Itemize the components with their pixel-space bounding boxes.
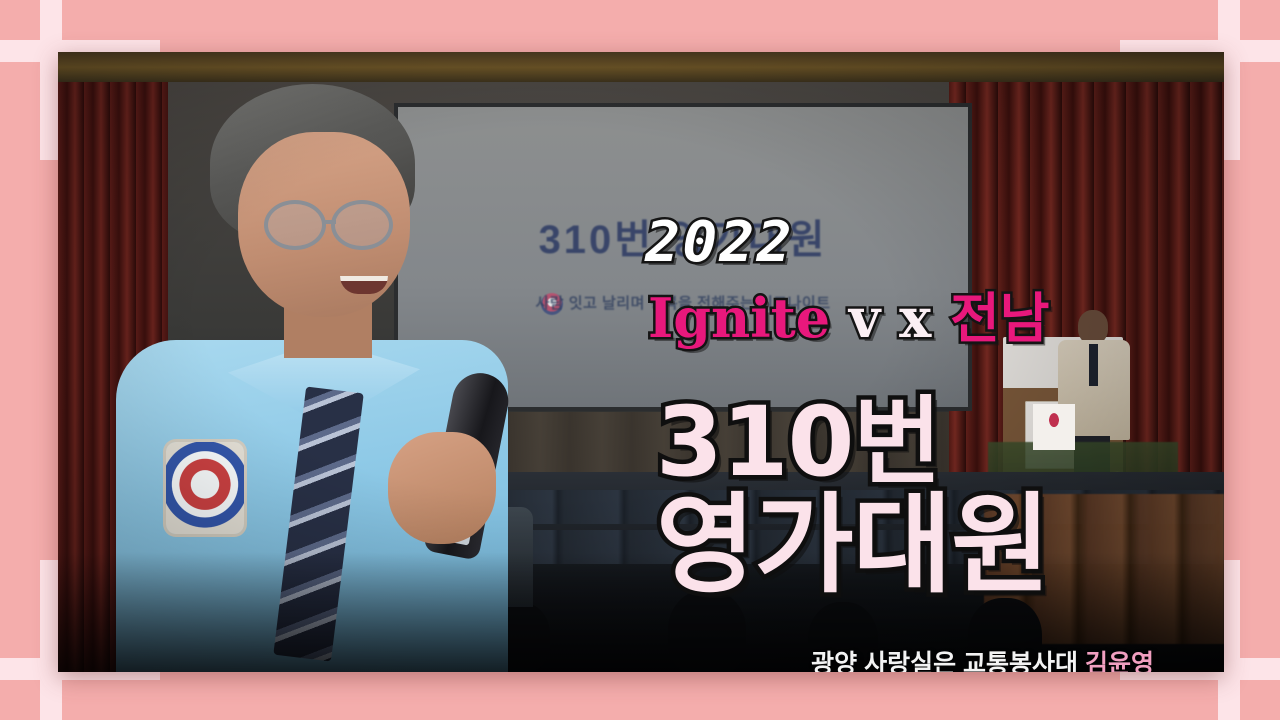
- uniform-shoulder-patch-icon: [166, 442, 244, 534]
- caption-name-prefix: 광양 사랑실은 교통봉사대: [811, 650, 1085, 672]
- overlay-brand-region: 전남: [950, 286, 1049, 350]
- eyeglasses-bridge: [324, 220, 336, 224]
- caption-name-line: 광양 사랑실은 교통봉사대 김윤영: [811, 644, 1154, 672]
- overlay-title-line-2: 영가대원: [656, 458, 1049, 614]
- podium-speaker-tie: [1089, 344, 1098, 386]
- podium-speaker-head: [1078, 310, 1108, 344]
- caption-person-name: 김윤영: [1085, 650, 1154, 672]
- overlay-year-text: 2022: [645, 210, 794, 275]
- eyeglasses-left-lens: [264, 200, 326, 250]
- event-photo: 310번 영가대원 사람 잇고 날리며 행복을 전해주는 이그나이트: [58, 52, 1224, 672]
- overlay-brand-line: Ignite v x 전남: [648, 274, 1049, 353]
- photo-scene: 310번 영가대원 사람 잇고 날리며 행복을 전해주는 이그나이트: [58, 52, 1224, 672]
- speaker-hand: [388, 432, 496, 544]
- main-speaker-portrait: [88, 72, 508, 672]
- thumbnail-canvas: 310번 영가대원 사람 잇고 날리며 행복을 전해주는 이그나이트: [0, 0, 1280, 720]
- overlay-brand-primary: Ignite: [648, 286, 830, 350]
- podium-logo-icon: [1033, 404, 1075, 450]
- overlay-brand-middle: v x: [830, 286, 950, 350]
- eyeglasses-right-lens: [331, 200, 393, 250]
